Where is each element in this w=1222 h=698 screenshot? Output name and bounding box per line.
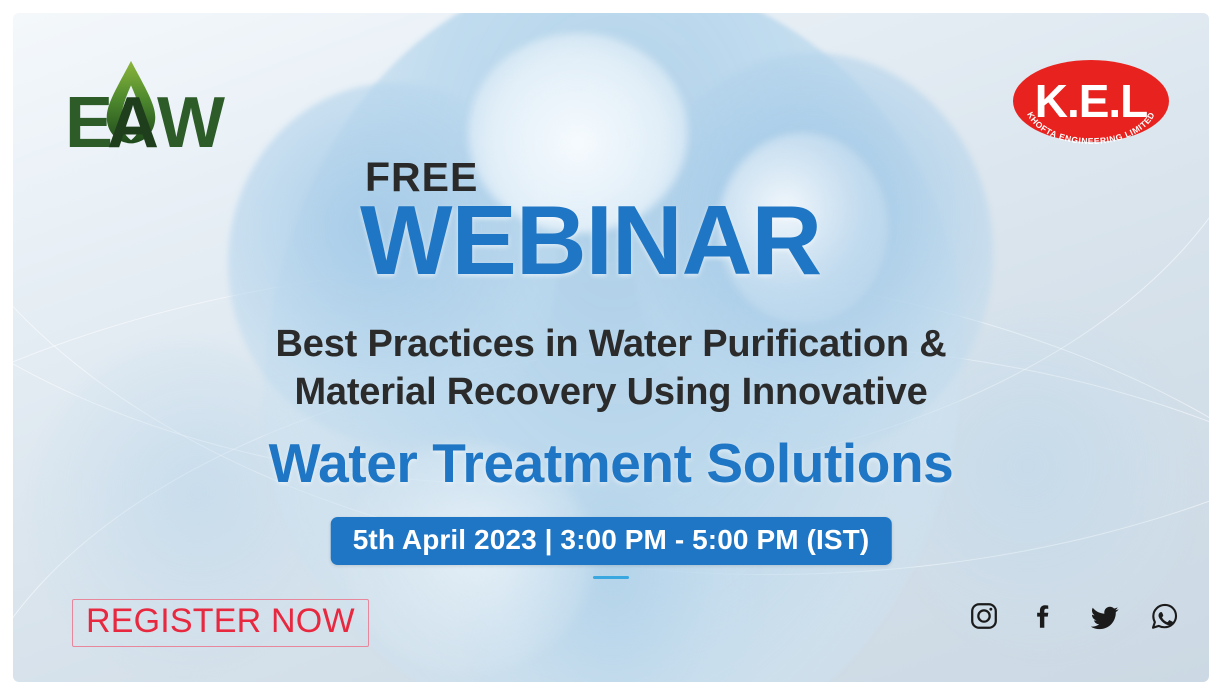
subtitle: Best Practices in Water Purification & M… <box>13 320 1209 417</box>
datetime-badge: 5th April 2023 | 3:00 PM - 5:00 PM (IST) <box>331 517 892 565</box>
screenshot-canvas: E A W K.E.L KHOFTA ENGINEERING LIMITED F… <box>0 0 1222 698</box>
banner-content: FREE WEBINAR Best Practices in Water Pur… <box>13 13 1209 682</box>
subtitle-line-1: Best Practices in Water Purification & <box>13 320 1209 368</box>
subtitle-line-2: Material Recovery Using Innovative <box>13 368 1209 416</box>
facebook-icon[interactable] <box>1027 599 1061 633</box>
social-links <box>967 599 1181 633</box>
whatsapp-icon[interactable] <box>1147 599 1181 633</box>
twitter-icon[interactable] <box>1087 599 1121 633</box>
webinar-banner: E A W K.E.L KHOFTA ENGINEERING LIMITED F… <box>13 13 1209 682</box>
headline: Water Treatment Solutions <box>13 432 1209 495</box>
register-now-button[interactable]: REGISTER NOW <box>72 599 369 647</box>
instagram-icon[interactable] <box>967 599 1001 633</box>
accent-dash <box>593 576 629 579</box>
page-title: WEBINAR <box>360 191 821 289</box>
